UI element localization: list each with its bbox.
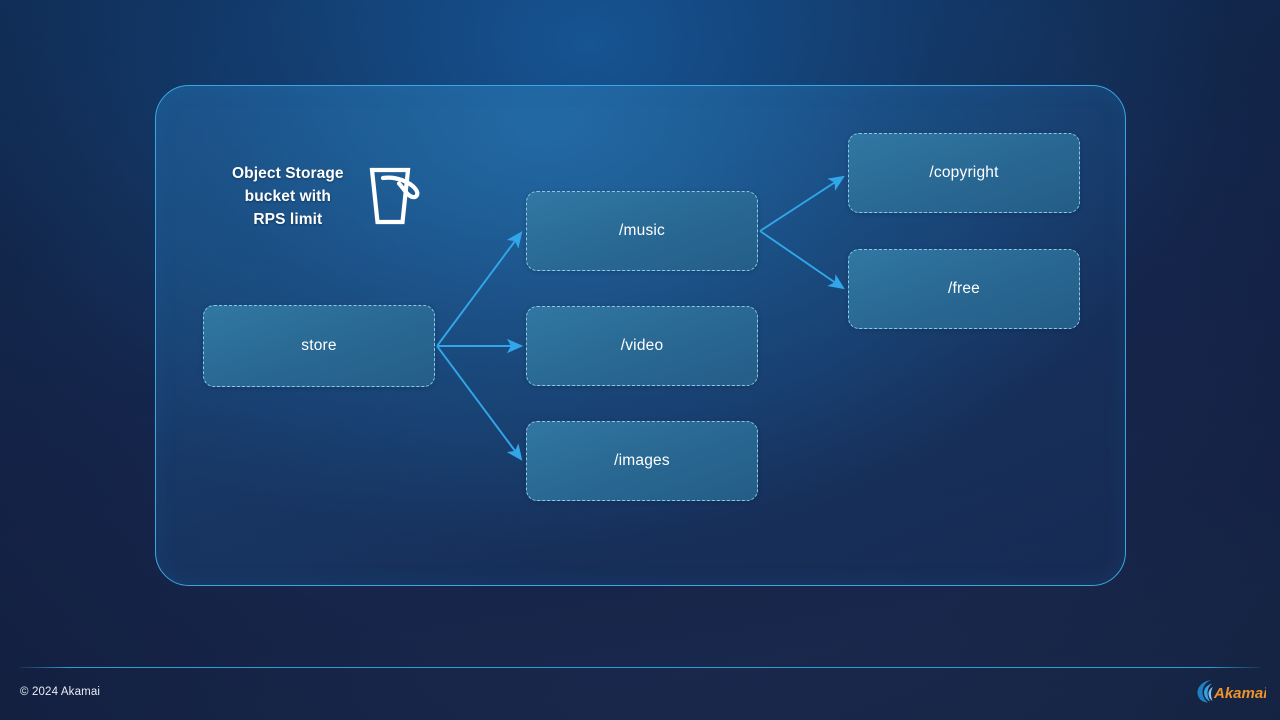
node-free[interactable]: /free bbox=[848, 249, 1080, 329]
node-music[interactable]: /music bbox=[526, 191, 758, 271]
node-images[interactable]: /images bbox=[526, 421, 758, 501]
object-storage-caption-group: Object Storage bucket with RPS limit bbox=[232, 163, 426, 231]
copyright-text: © 2024 Akamai bbox=[20, 686, 100, 698]
slide-canvas: Object Storage bucket with RPS limit sto… bbox=[0, 0, 1280, 720]
footer-divider bbox=[20, 667, 1260, 668]
node-video[interactable]: /video bbox=[526, 306, 758, 386]
akamai-logo-mark bbox=[1198, 680, 1214, 703]
node-store[interactable]: store bbox=[203, 305, 435, 387]
akamai-logo-text: Akamai bbox=[1213, 685, 1266, 702]
bucket-icon bbox=[366, 166, 426, 228]
object-storage-caption: Object Storage bucket with RPS limit bbox=[232, 163, 344, 231]
node-copyright[interactable]: /copyright bbox=[848, 133, 1080, 213]
akamai-logo: Akamai bbox=[1196, 678, 1266, 704]
